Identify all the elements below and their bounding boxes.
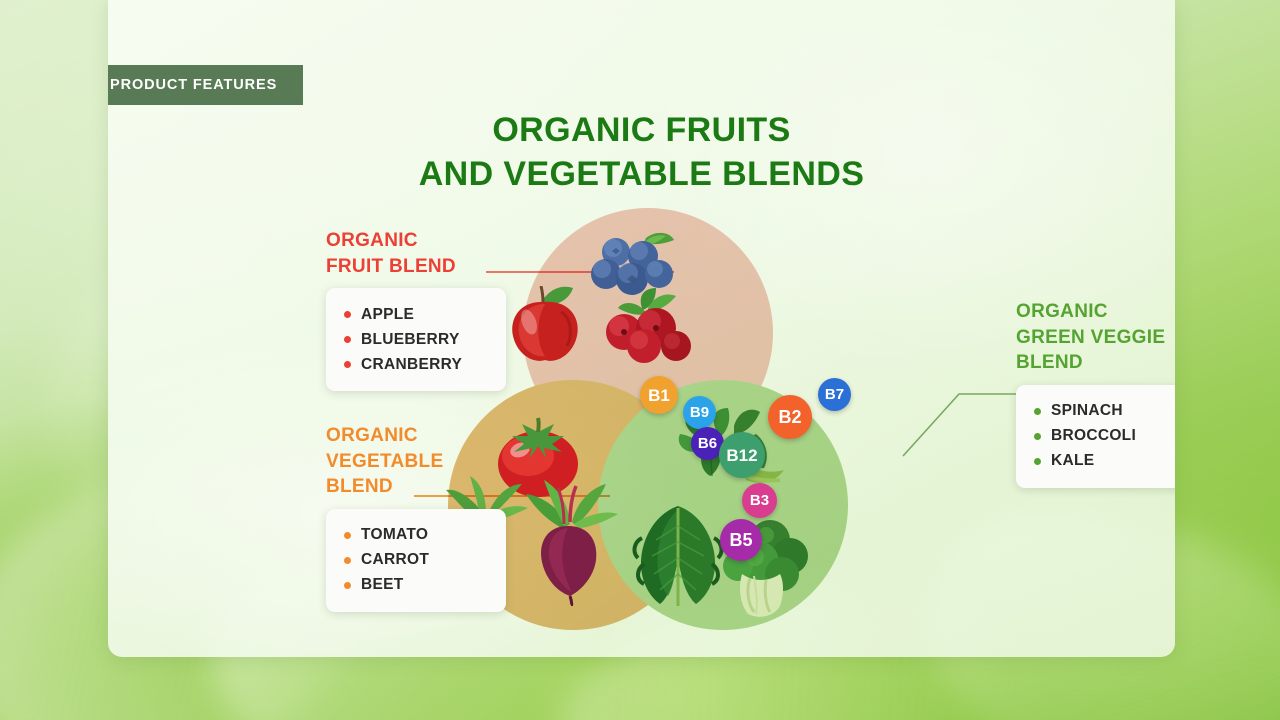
list-item: CRANBERRY <box>344 352 486 377</box>
bullet-dot-icon <box>344 361 351 368</box>
vitamin-badge-b1[interactable]: B1 <box>640 376 678 414</box>
list-item-label: BROCCOLI <box>1051 427 1136 445</box>
vitamin-badge-b5[interactable]: B5 <box>720 519 762 561</box>
list-item-label: BEET <box>361 576 404 594</box>
bullet-dot-icon <box>1034 458 1041 465</box>
vitamin-badge-b12[interactable]: B12 <box>719 432 765 478</box>
list-item: KALE <box>1034 449 1175 474</box>
callout-vegetable-card: TOMATO CARROT BEET <box>326 509 506 612</box>
callout-fruit-card: APPLE BLUEBERRY CRANBERRY <box>326 288 506 391</box>
cranberries-illustration <box>598 288 696 364</box>
bullet-dot-icon <box>344 336 351 343</box>
list-item: SPINACH <box>1034 399 1175 424</box>
slide-panel: PRODUCT FEATURES ORGANIC FRUITS AND VEGE… <box>108 0 1175 657</box>
bullet-dot-icon <box>344 311 351 318</box>
list-item-label: CRANBERRY <box>361 356 462 374</box>
bullet-dot-icon <box>344 557 351 564</box>
list-item: BROCCOLI <box>1034 424 1175 449</box>
connector-line-green-veggie <box>901 372 1021 458</box>
callout-green-veggie-heading: ORGANIC GREEN VEGGIE BLEND <box>1016 299 1175 376</box>
page-title-line-2: AND VEGETABLE BLENDS <box>108 152 1175 196</box>
list-item-label: BLUEBERRY <box>361 331 460 349</box>
list-item: TOMATO <box>344 523 486 548</box>
bullet-dot-icon <box>1034 408 1041 415</box>
vitamin-badge-b3[interactable]: B3 <box>742 483 777 518</box>
page-title: ORGANIC FRUITS AND VEGETABLE BLENDS <box>108 108 1175 196</box>
product-features-tag: PRODUCT FEATURES <box>108 65 303 105</box>
callout-green-veggie-card: SPINACH BROCCOLI KALE <box>1016 385 1175 488</box>
bullet-dot-icon <box>344 532 351 539</box>
list-item-label: KALE <box>1051 452 1094 470</box>
list-item: CARROT <box>344 548 486 573</box>
vitamin-badge-b2[interactable]: B2 <box>768 395 812 439</box>
list-item: BLUEBERRY <box>344 327 486 352</box>
list-item-label: CARROT <box>361 551 429 569</box>
vitamin-badge-b9[interactable]: B9 <box>683 396 716 429</box>
callout-vegetable-blend: ORGANIC VEGETABLE BLEND TOMATO CARROT BE… <box>326 423 506 612</box>
callout-fruit-heading: ORGANIC FRUIT BLEND <box>326 228 506 279</box>
list-item-label: APPLE <box>361 306 414 324</box>
apple-illustration <box>503 286 587 366</box>
vitamin-badge-b7[interactable]: B7 <box>818 378 851 411</box>
callout-green-veggie-blend: ORGANIC GREEN VEGGIE BLEND SPINACH BROCC… <box>1016 299 1175 488</box>
list-item-label: SPINACH <box>1051 402 1123 420</box>
list-item: BEET <box>344 573 486 598</box>
list-item-label: TOMATO <box>361 526 428 544</box>
page-title-line-1: ORGANIC FRUITS <box>108 108 1175 152</box>
callout-vegetable-heading: ORGANIC VEGETABLE BLEND <box>326 423 506 500</box>
venn-diagram: B1 B9 B6 B7 B2 B12 B3 B5 <box>448 208 868 628</box>
beet-illustration <box>518 478 622 606</box>
bullet-dot-icon <box>1034 433 1041 440</box>
bullet-dot-icon <box>344 582 351 589</box>
list-item: APPLE <box>344 302 486 327</box>
callout-fruit-blend: ORGANIC FRUIT BLEND APPLE BLUEBERRY CRAN… <box>326 228 506 391</box>
